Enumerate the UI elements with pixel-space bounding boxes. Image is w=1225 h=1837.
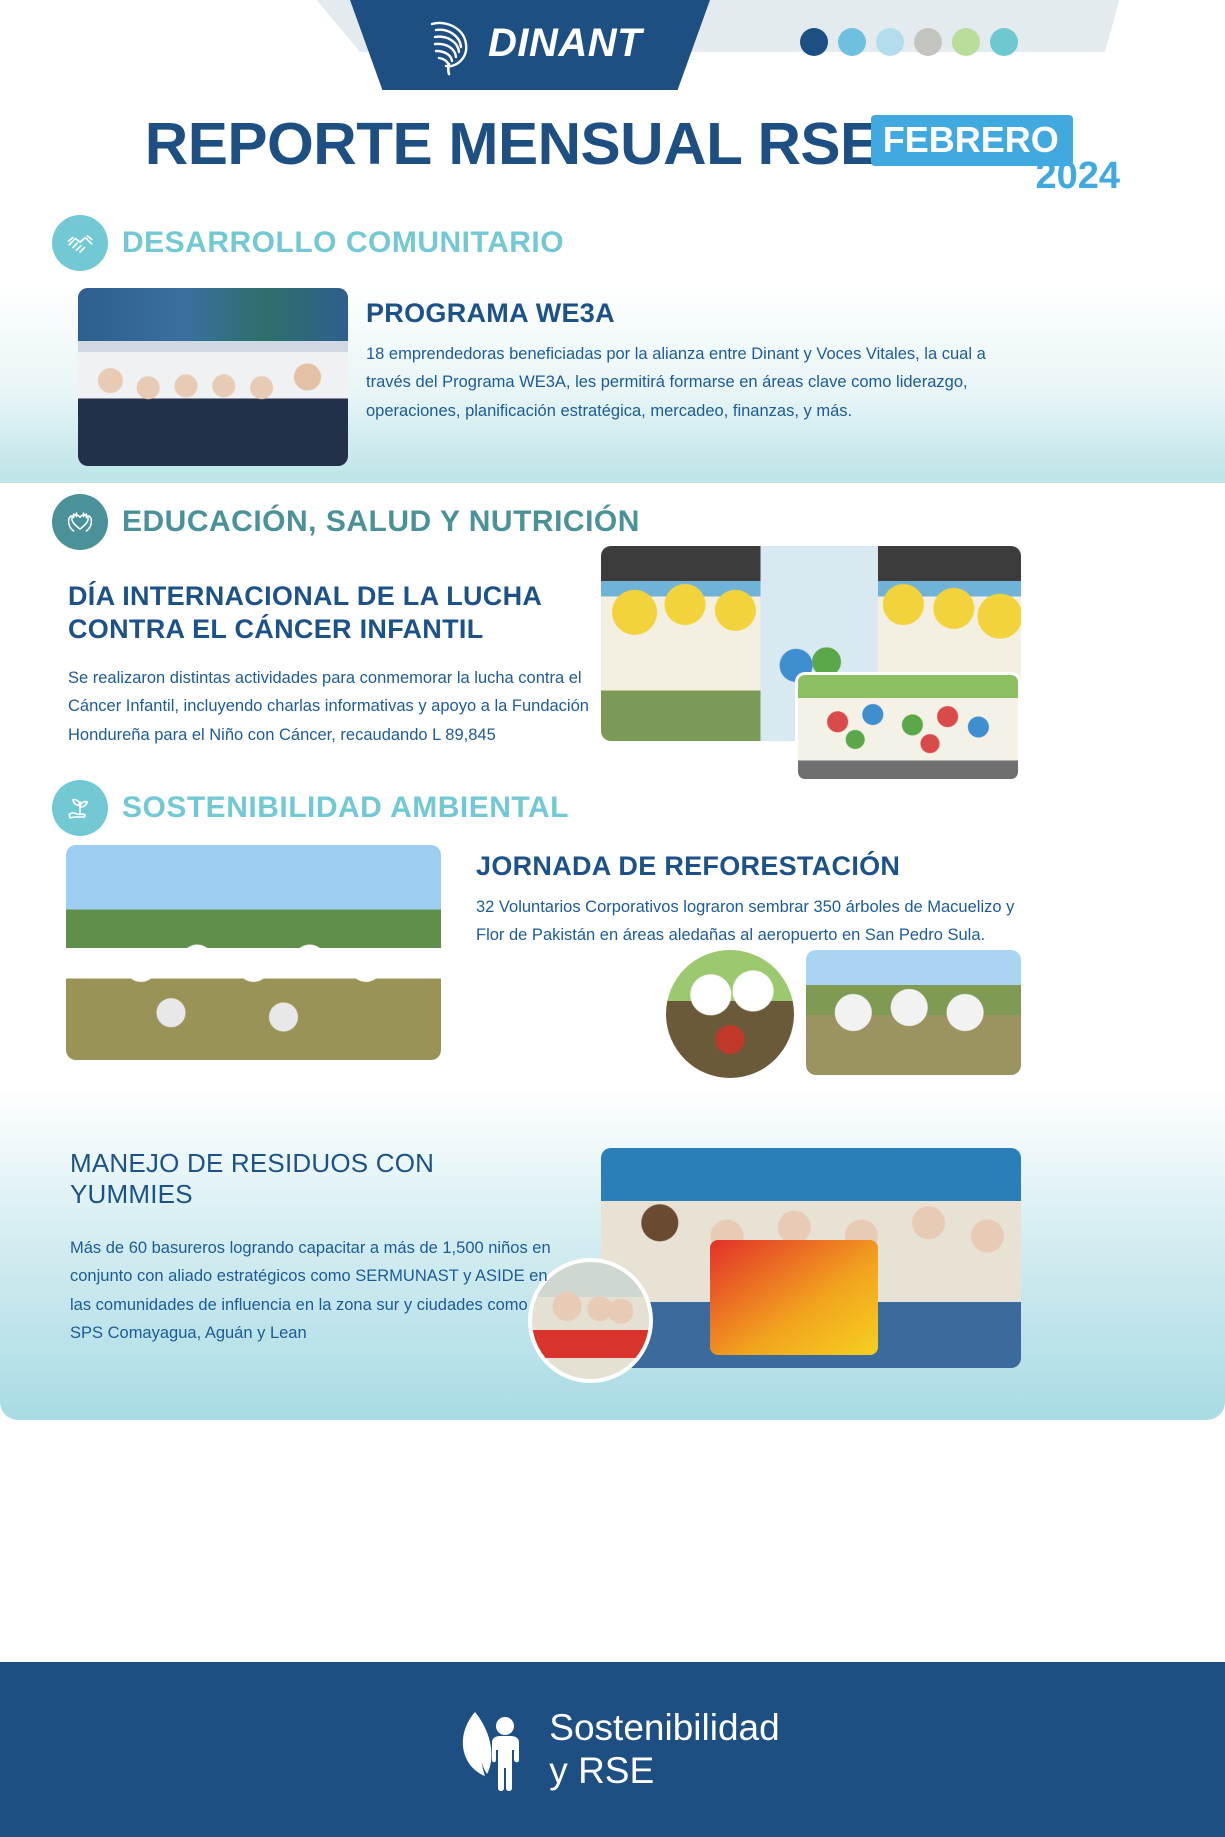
page-title: REPORTE MENSUAL RSE [145,110,880,178]
report-page: DINANT REPORTE MENSUAL RSE FEBRERO 2024 … [0,0,1225,1837]
photo-siembra-circular [666,950,794,1078]
photo-voluntarios-reforestacion [66,845,441,1060]
sidebar-item-educacion-salud-nutricion: EDUCACIÓN, SALUD Y NUTRICIÓN [52,494,640,550]
header-dot-row [800,28,1018,56]
block-jornada-reforestacion: JORNADA DE REFORESTACIÓN 32 Voluntarios … [476,850,1026,950]
sostenibilidad-rse-icon [445,1704,531,1796]
handshake-icon [52,215,108,271]
block-title-yummies: MANEJO DE RESIDUOS CON YUMMIES [70,1148,560,1210]
photo-voluntarios-campo [806,950,1021,1075]
block-title-we3a: PROGRAMA WE3A [366,297,1026,330]
dot-lightblue [876,28,904,56]
dot-gray [914,28,942,56]
block-body-yummies: Más de 60 basureros logrando capacitar a… [70,1234,560,1348]
top-band-left-notch [0,0,360,52]
sidebar-item-desarrollo-comunitario: DESARROLLO COMUNITARIO [52,215,564,271]
footer-line-2: y RSE [549,1750,779,1792]
block-body-we3a: 18 emprendedoras beneficiadas por la ali… [366,340,1026,425]
section-title-sostenibilidad: SOSTENIBILIDAD AMBIENTAL [122,791,569,825]
block-title-cancer-line2: CONTRA EL CÁNCER INFANTIL [68,613,598,646]
heart-hands-icon [52,494,108,550]
section-1-divider [0,475,1225,483]
page-footer: Sostenibilidad y RSE [0,1662,1225,1837]
block-manejo-residuos: MANEJO DE RESIDUOS CON YUMMIES Más de 60… [70,1148,560,1348]
photo-ninos-zambos [601,1148,1021,1368]
block-title-reforestacion: JORNADA DE REFORESTACIÓN [476,850,1026,883]
dot-blue [838,28,866,56]
dot-green [952,28,980,56]
top-band-right-notch [1105,0,1225,52]
sidebar-item-sostenibilidad-ambiental: SOSTENIBILIDAD AMBIENTAL [52,780,569,836]
dot-teal [990,28,1018,56]
block-programa-we3a: PROGRAMA WE3A 18 emprendedoras beneficia… [366,297,1026,425]
photo-manos-pintadas [795,672,1021,782]
plant-hand-icon [52,780,108,836]
title-year: 2024 [1035,155,1120,198]
dinant-logo: DINANT [350,0,710,90]
block-body-cancer: Se realizaron distintas actividades para… [68,664,598,749]
footer-line-1: Sostenibilidad [549,1707,779,1749]
section-title-desarrollo: DESARROLLO COMUNITARIO [122,226,564,260]
block-cancer-infantil: DÍA INTERNACIONAL DE LA LUCHA CONTRA EL … [68,580,598,749]
dot-navy [800,28,828,56]
block-title-cancer-line1: DÍA INTERNACIONAL DE LA LUCHA [68,580,598,613]
photo-we3a-group [78,288,348,466]
section-title-educacion: EDUCACIÓN, SALUD Y NUTRICIÓN [122,505,640,539]
dinant-wordmark: DINANT [488,21,642,66]
dinant-leaf-icon [418,14,480,76]
footer-text: Sostenibilidad y RSE [549,1707,779,1791]
block-body-reforestacion: 32 Voluntarios Corporativos lograron sem… [476,893,1026,950]
